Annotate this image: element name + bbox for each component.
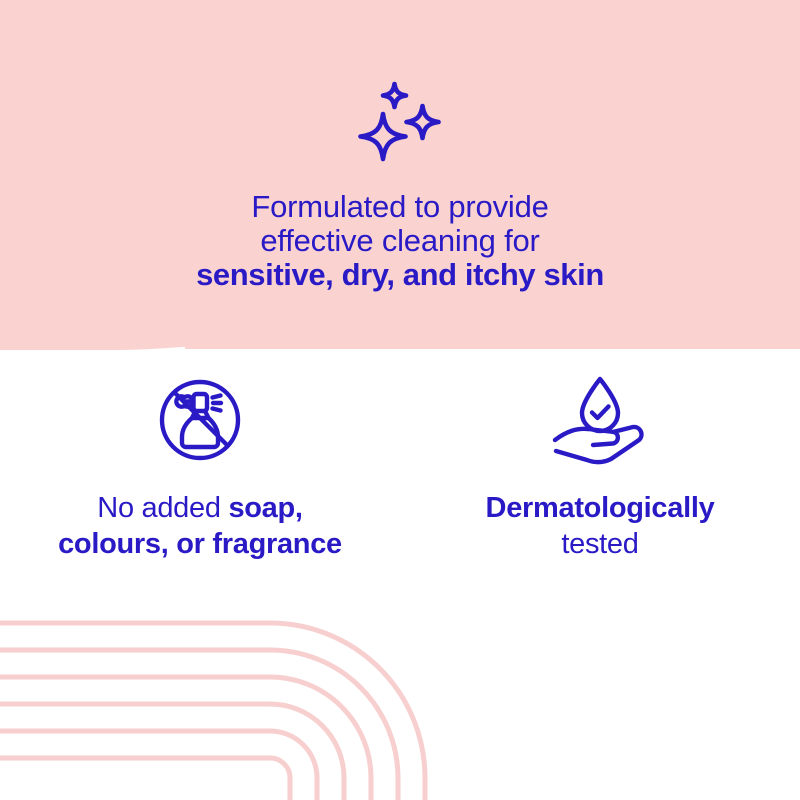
hero-line-1: Formulated to provide: [0, 190, 800, 224]
sparkle-medium: [407, 106, 439, 138]
feature-dermatologically-tested: Dermatologically tested: [400, 370, 800, 562]
sparkles-icon: [354, 0, 446, 168]
feature-1-line-1: No added soap,: [0, 490, 400, 526]
spray-nozzle: [194, 394, 208, 411]
feature-row: No added soap, colours, or fragrance: [0, 370, 800, 562]
no-soap-spray-bottle-icon: [150, 370, 250, 470]
feature-no-added-soap-label: No added soap, colours, or fragrance: [0, 490, 400, 562]
feature-no-added-soap: No added soap, colours, or fragrance: [0, 370, 400, 562]
sparkle-large: [361, 114, 406, 159]
feature-2-line-2: tested: [400, 526, 800, 562]
sparkle-small: [383, 84, 406, 107]
hero-section: Formulated to provide effective cleaning…: [0, 0, 800, 292]
pink-concentric-arc-lines: [0, 600, 520, 800]
feature-1-line-2: colours, or fragrance: [0, 526, 400, 562]
promo-graphic: Formulated to provide effective cleaning…: [0, 0, 800, 800]
feature-1-line-1-bold: soap,: [228, 492, 302, 524]
droplet-check-on-hand-icon: [541, 370, 659, 470]
mist-line-3: [213, 409, 221, 411]
arc-line-5: [0, 731, 317, 800]
hero-line-3: sensitive, dry, and itchy skin: [0, 258, 800, 292]
feature-dermatologically-tested-label: Dermatologically tested: [400, 490, 800, 562]
droplet-outline: [582, 379, 618, 431]
mist-line-1: [213, 396, 221, 398]
check-icon: [592, 407, 609, 419]
feature-2-line-1: Dermatologically: [400, 490, 800, 526]
arc-line-2: [0, 650, 398, 800]
feature-1-line-1-regular: No added: [97, 492, 228, 524]
arc-line-6: [0, 758, 290, 800]
hand-upper-edge: [555, 429, 618, 445]
hero-line-2: effective cleaning for: [0, 224, 800, 258]
hero-headline: Formulated to provide effective cleaning…: [0, 190, 800, 292]
